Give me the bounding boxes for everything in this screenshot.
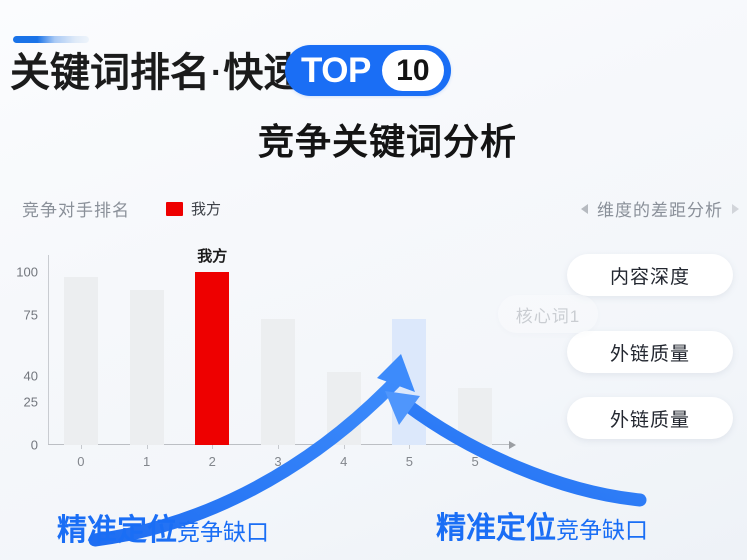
competitor-bar-chart: 100754025001我方23455 bbox=[48, 255, 508, 445]
dimension-chip-backlink-quality-1[interactable]: 外链质量 bbox=[567, 331, 733, 373]
x-axis-tick-mark bbox=[147, 445, 148, 449]
bar-competitor[interactable] bbox=[392, 319, 426, 445]
legend-label: 我方 bbox=[191, 198, 221, 219]
dimension-gap-header: 维度的差距分析 bbox=[581, 196, 739, 221]
badge-number: 10 bbox=[382, 50, 444, 91]
x-axis-tick: 3 bbox=[274, 454, 281, 469]
x-axis-tick-mark bbox=[278, 445, 279, 449]
bar-mine[interactable] bbox=[195, 272, 229, 445]
core-keyword-chip[interactable]: 核心词1 bbox=[498, 295, 598, 333]
chart-legend: 我方 bbox=[166, 198, 221, 219]
x-axis-tick-mark bbox=[81, 445, 82, 449]
caption-left-big: 精准定位 bbox=[57, 505, 177, 549]
caption-right: 精准定位 竞争缺口 bbox=[436, 503, 648, 547]
chevron-left-icon[interactable] bbox=[581, 204, 588, 214]
y-axis bbox=[48, 255, 49, 445]
page-title: 关键词排名 · 快速 bbox=[10, 46, 303, 100]
caption-right-small: 竞争缺口 bbox=[556, 511, 648, 545]
dimension-chip-backlink-quality-2[interactable]: 外链质量 bbox=[567, 397, 733, 439]
dimension-gap-title: 维度的差距分析 bbox=[597, 196, 723, 221]
x-axis-tick: 1 bbox=[143, 454, 150, 469]
bar-competitor[interactable] bbox=[458, 388, 492, 445]
top-rank-badge: TOP 10 bbox=[285, 45, 451, 96]
y-axis-tick: 75 bbox=[24, 308, 38, 323]
bar-competitor[interactable] bbox=[327, 372, 361, 445]
caption-left-small: 竞争缺口 bbox=[177, 513, 269, 547]
x-axis-tick-mark bbox=[409, 445, 410, 449]
chevron-right-icon[interactable] bbox=[732, 204, 739, 214]
legend-swatch-icon bbox=[166, 202, 183, 216]
x-axis-arrow-icon bbox=[509, 441, 516, 449]
x-axis-tick: 5 bbox=[472, 454, 479, 469]
x-axis-tick: 0 bbox=[77, 454, 84, 469]
x-axis-tick: 5 bbox=[406, 454, 413, 469]
accent-bar bbox=[13, 36, 89, 43]
page-title-part-1: 关键词排名 bbox=[10, 53, 210, 93]
bar-value-label-mine: 我方 bbox=[197, 245, 227, 266]
bar-competitor[interactable] bbox=[64, 277, 98, 445]
x-axis-tick: 4 bbox=[340, 454, 347, 469]
bar-competitor[interactable] bbox=[261, 319, 295, 445]
page-subtitle: 竞争关键词分析 bbox=[0, 113, 747, 165]
y-axis-tick: 100 bbox=[16, 265, 38, 280]
bar-competitor[interactable] bbox=[130, 290, 164, 445]
x-axis-tick-mark bbox=[344, 445, 345, 449]
x-axis-tick: 2 bbox=[209, 454, 216, 469]
y-axis-tick: 0 bbox=[31, 438, 38, 453]
badge-word: TOP bbox=[301, 53, 382, 88]
y-axis-tick: 25 bbox=[24, 394, 38, 409]
caption-left: 精准定位 竞争缺口 bbox=[57, 505, 269, 549]
caption-right-big: 精准定位 bbox=[436, 503, 556, 547]
x-axis-tick-mark bbox=[475, 445, 476, 449]
page-title-separator: · bbox=[210, 54, 223, 93]
chart-header: 竞争对手排名 我方 bbox=[22, 196, 221, 221]
x-axis-tick-mark bbox=[212, 445, 213, 449]
chart-section-title: 竞争对手排名 bbox=[22, 196, 130, 221]
y-axis-tick: 40 bbox=[24, 368, 38, 383]
dimension-chip-content-depth[interactable]: 内容深度 bbox=[567, 254, 733, 296]
